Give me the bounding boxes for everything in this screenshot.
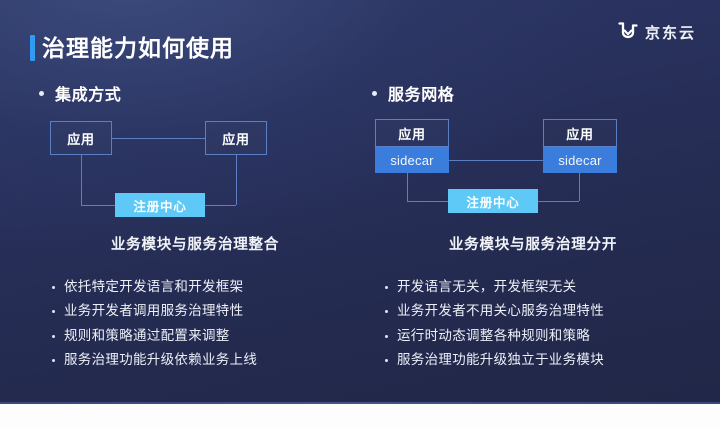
brand-logo-text: 京东云 [645, 22, 696, 43]
bullet-dot-icon [52, 310, 55, 313]
diagram-caption-service-mesh: 业务模块与服务治理分开 [363, 233, 703, 254]
bullet-dot-icon [385, 310, 388, 313]
list-item-label: 服务治理功能升级独立于业务模块 [397, 351, 604, 368]
bullet-dot-icon [52, 359, 55, 362]
column-service-mesh: 服务网格 应用 sidecar 应用 sidecar 注册中心 [363, 82, 703, 375]
list-item: 服务治理功能升级依赖业务上线 [52, 351, 360, 368]
edge-sidecar-right-down [579, 173, 580, 201]
edge-registry-to-right [538, 201, 579, 202]
node-app-right: 应用 [205, 121, 267, 155]
diagram-integration: 应用 应用 注册中心 [30, 117, 360, 229]
list-item: 规则和策略通过配置来调整 [52, 327, 360, 344]
node-app-left: 应用 [375, 119, 449, 147]
list-item-label: 运行时动态调整各种规则和策略 [397, 327, 590, 344]
page-title-text: 治理能力如何使用 [42, 37, 234, 60]
node-label: 注册中心 [133, 196, 186, 215]
bullet-dot-icon [39, 91, 44, 96]
node-sidecar-right: sidecar [543, 147, 617, 173]
edge-sidecar-to-sidecar [449, 160, 543, 161]
bottom-white-strip [0, 404, 720, 428]
diagram-service-mesh: 应用 sidecar 应用 sidecar 注册中心 [363, 117, 703, 229]
section-heading-service-mesh: 服务网格 [372, 82, 703, 104]
list-item-label: 依托特定开发语言和开发框架 [64, 278, 243, 295]
bullet-list-integration: 依托特定开发语言和开发框架 业务开发者调用服务治理特性 规则和策略通过配置来调整… [30, 278, 360, 368]
edge-app-to-app [112, 138, 205, 139]
bullet-dot-icon [52, 286, 55, 289]
bullet-dot-icon [385, 286, 388, 289]
node-label: sidecar [390, 153, 433, 168]
list-item: 运行时动态调整各种规则和策略 [385, 327, 703, 344]
section-heading-label: 服务网格 [388, 81, 454, 105]
diagram-caption-integration: 业务模块与服务治理整合 [30, 233, 360, 254]
list-item-label: 业务开发者调用服务治理特性 [64, 302, 243, 319]
list-item: 服务治理功能升级独立于业务模块 [385, 351, 703, 368]
bullet-list-service-mesh: 开发语言无关，开发框架无关 业务开发者不用关心服务治理特性 运行时动态调整各种规… [363, 278, 703, 368]
node-app-right: 应用 [543, 119, 617, 147]
node-label: 应用 [222, 129, 250, 148]
edge-registry-to-right [205, 205, 236, 206]
node-app-left: 应用 [50, 121, 112, 155]
node-label: 应用 [398, 124, 426, 143]
column-integration: 集成方式 应用 应用 注册中心 业务模块与服务治理整合 依托特定开 [30, 82, 360, 375]
list-item: 业务开发者不用关心服务治理特性 [385, 302, 703, 319]
edge-sidecar-left-down [407, 173, 408, 201]
list-item: 开发语言无关，开发框架无关 [385, 278, 703, 295]
list-item-label: 规则和策略通过配置来调整 [64, 327, 230, 344]
list-item-label: 服务治理功能升级依赖业务上线 [64, 351, 257, 368]
edge-left-to-registry [407, 201, 448, 202]
node-registry: 注册中心 [448, 189, 538, 213]
bullet-dot-icon [372, 91, 377, 96]
edge-app-right-down [236, 155, 237, 205]
list-item-label: 业务开发者不用关心服务治理特性 [397, 302, 604, 319]
node-label: sidecar [558, 153, 601, 168]
title-accent-bar [30, 35, 35, 61]
list-item: 依托特定开发语言和开发框架 [52, 278, 360, 295]
edge-app-left-down [81, 155, 82, 205]
edge-left-to-registry [81, 205, 115, 206]
bullet-dot-icon [52, 335, 55, 338]
node-label: 注册中心 [466, 192, 519, 211]
section-heading-integration: 集成方式 [39, 82, 360, 104]
slide-canvas: 治理能力如何使用 京东云 集成方式 应用 应用 注册中心 [0, 0, 720, 404]
bullet-dot-icon [385, 335, 388, 338]
list-item-label: 开发语言无关，开发框架无关 [397, 278, 576, 295]
node-registry: 注册中心 [115, 193, 205, 217]
node-sidecar-left: sidecar [375, 147, 449, 173]
bullet-dot-icon [385, 359, 388, 362]
brand-logo: 京东云 [618, 21, 696, 44]
node-label: 应用 [566, 124, 594, 143]
section-heading-label: 集成方式 [55, 81, 121, 105]
node-label: 应用 [67, 129, 95, 148]
page-title: 治理能力如何使用 [30, 35, 234, 61]
jd-cloud-logo-icon [618, 21, 638, 44]
list-item: 业务开发者调用服务治理特性 [52, 302, 360, 319]
